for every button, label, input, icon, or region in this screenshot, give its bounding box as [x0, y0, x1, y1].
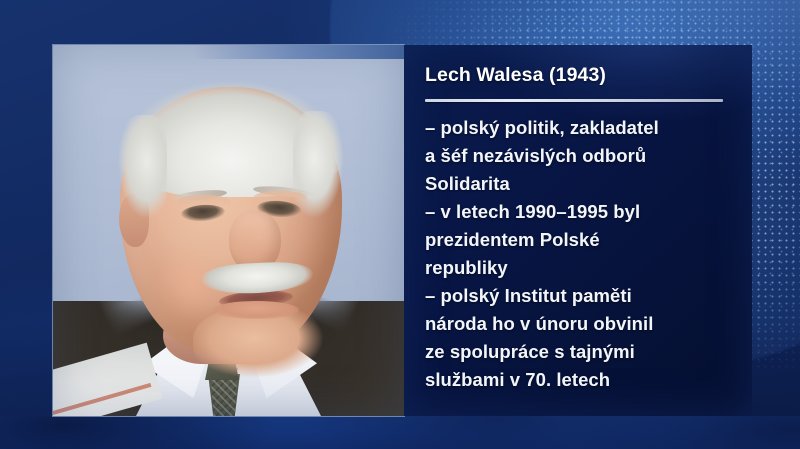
eyelid-left	[177, 195, 231, 209]
infographic-slide: Lech Walesa (1943) – polský politik, zak…	[0, 0, 800, 449]
subject-photo	[53, 45, 404, 416]
panel-body-line: národa ho v únoru obvinil	[425, 310, 730, 338]
panel-body-line: a šéf nezávislých odborů	[425, 142, 730, 170]
panel-body-line: – polský politik, zakladatel	[425, 114, 730, 142]
panel-body-line: ze spolupráce s tajnými	[425, 338, 730, 366]
panel-divider	[425, 99, 723, 102]
eyelid-right	[253, 191, 307, 205]
panel-title: Lech Walesa (1943)	[425, 63, 730, 87]
panel-body-line: republiky	[425, 254, 730, 282]
photo-backdrop-corner	[53, 45, 404, 59]
hair-side-left	[109, 115, 167, 231]
photo-image	[53, 45, 404, 416]
bottom-band	[0, 416, 800, 449]
panel-body-line: – polský Institut paměti	[425, 282, 730, 310]
panel-body: – polský politik, zakladatela šéf nezávi…	[425, 114, 730, 394]
lower-lip	[213, 301, 299, 319]
panel-body-line: – v letech 1990–1995 byl	[425, 198, 730, 226]
panel-body-line: prezidentem Polské	[425, 226, 730, 254]
panel-body-line: Solidarita	[425, 170, 730, 198]
info-panel: Lech Walesa (1943) – polský politik, zak…	[404, 45, 752, 416]
panel-body-line: službami v 70. letech	[425, 366, 730, 394]
